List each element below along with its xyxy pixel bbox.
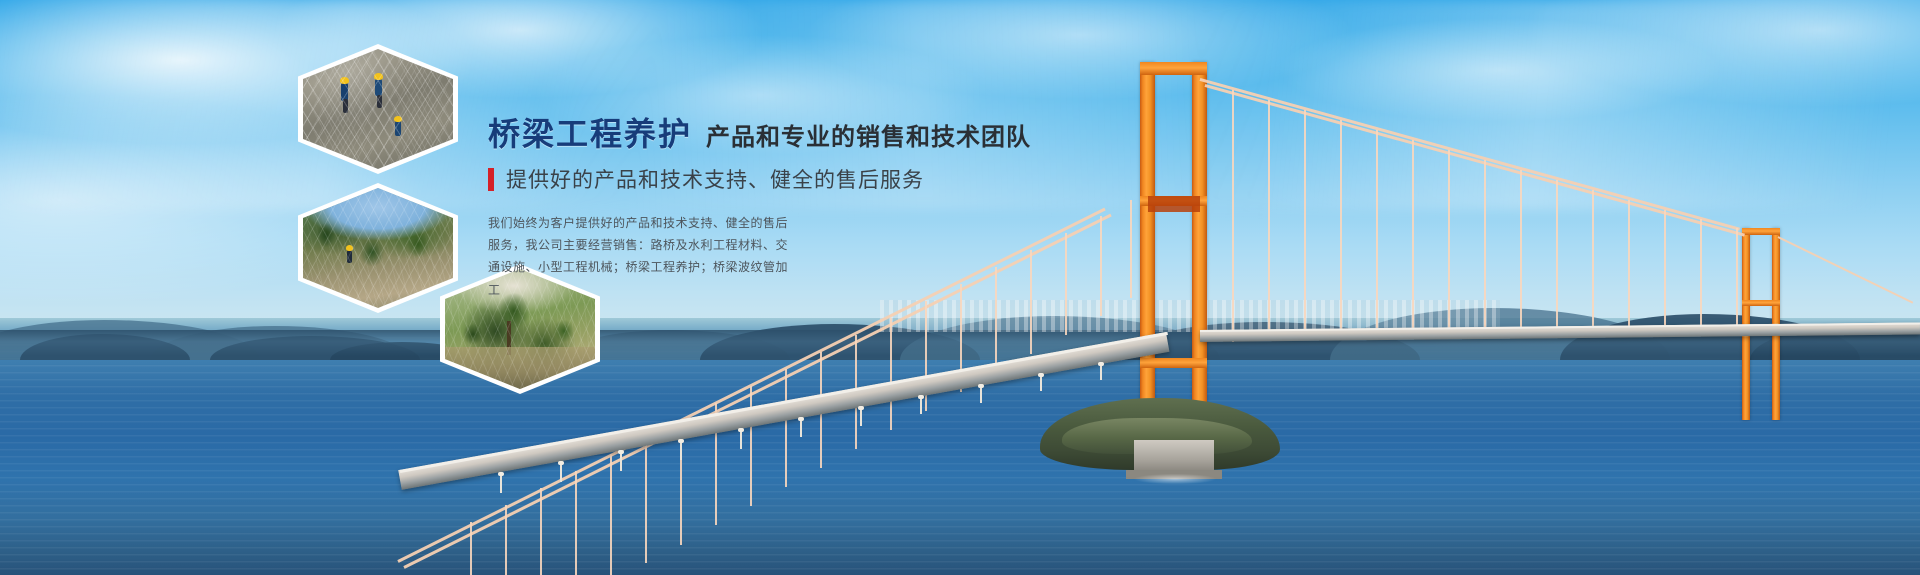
headline-primary: 桥梁工程养护 [488,118,692,150]
banner-headline: 桥梁工程养护 产品和专业的销售和技术团队 [488,118,1048,150]
banner-subheadline-row: 提供好的产品和技术支持、健全的售后服务 [488,164,1048,194]
accent-bar [488,168,494,191]
headline-secondary: 产品和专业的销售和技术团队 [706,126,1031,150]
banner-description: 我们始终为客户提供好的产品和技术支持、健全的售后服务，我公司主要经营销售：路桥及… [488,212,798,301]
hero-banner: 桥梁工程养护 产品和专业的销售和技术团队 提供好的产品和技术支持、健全的售后服务… [0,0,1920,575]
subheadline-text: 提供好的产品和技术支持、健全的售后服务 [506,164,924,194]
banner-text-block: 桥梁工程养护 产品和专业的销售和技术团队 提供好的产品和技术支持、健全的售后服务… [488,118,1048,301]
